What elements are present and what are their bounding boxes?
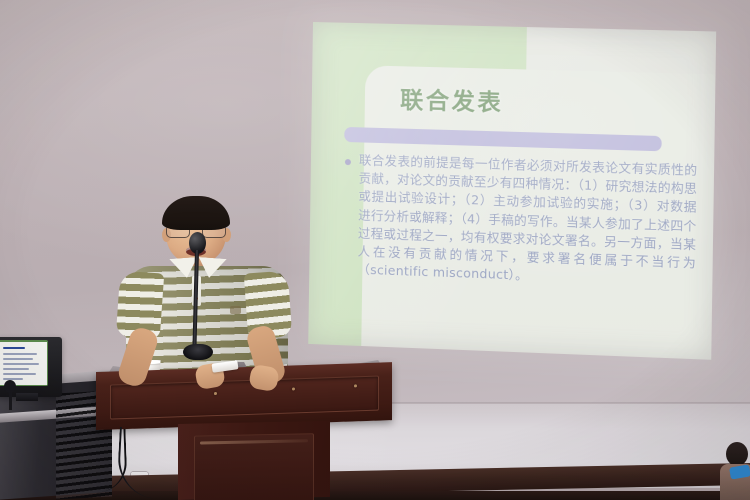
desktop-microphone-icon [2,380,18,410]
powerpoint-slide: 联合发表 联合发表的前提是每一位作者必须对所发表论文有实质性的贡献，对论文的贡献… [308,22,716,360]
slide-bullet-text: 联合发表的前提是每一位作者必须对所发表论文有实质性的贡献，对论文的贡献至少有四种… [357,151,697,291]
monitor-screen [0,342,47,385]
slide-bullet-row: 联合发表的前提是每一位作者必须对所发表论文有实质性的贡献，对论文的贡献至少有四种… [343,151,697,292]
presentation-photo-scene: 联合发表 联合发表的前提是每一位作者必须对所发表论文有实质性的贡献，对论文的贡献… [0,0,750,500]
hair [162,196,230,230]
bullet-dot-icon [345,159,351,165]
bystander [714,438,750,500]
monitor-stand [16,393,38,401]
podium-body [178,421,330,500]
slide-title: 联合发表 [400,80,504,117]
shirt-logo [230,306,241,314]
projection-screen: 联合发表 联合发表的前提是每一位作者必须对所发表论文有实质性的贡献，对论文的贡献… [308,22,716,360]
floor-strip [0,491,750,500]
microphone-icon [183,232,213,382]
